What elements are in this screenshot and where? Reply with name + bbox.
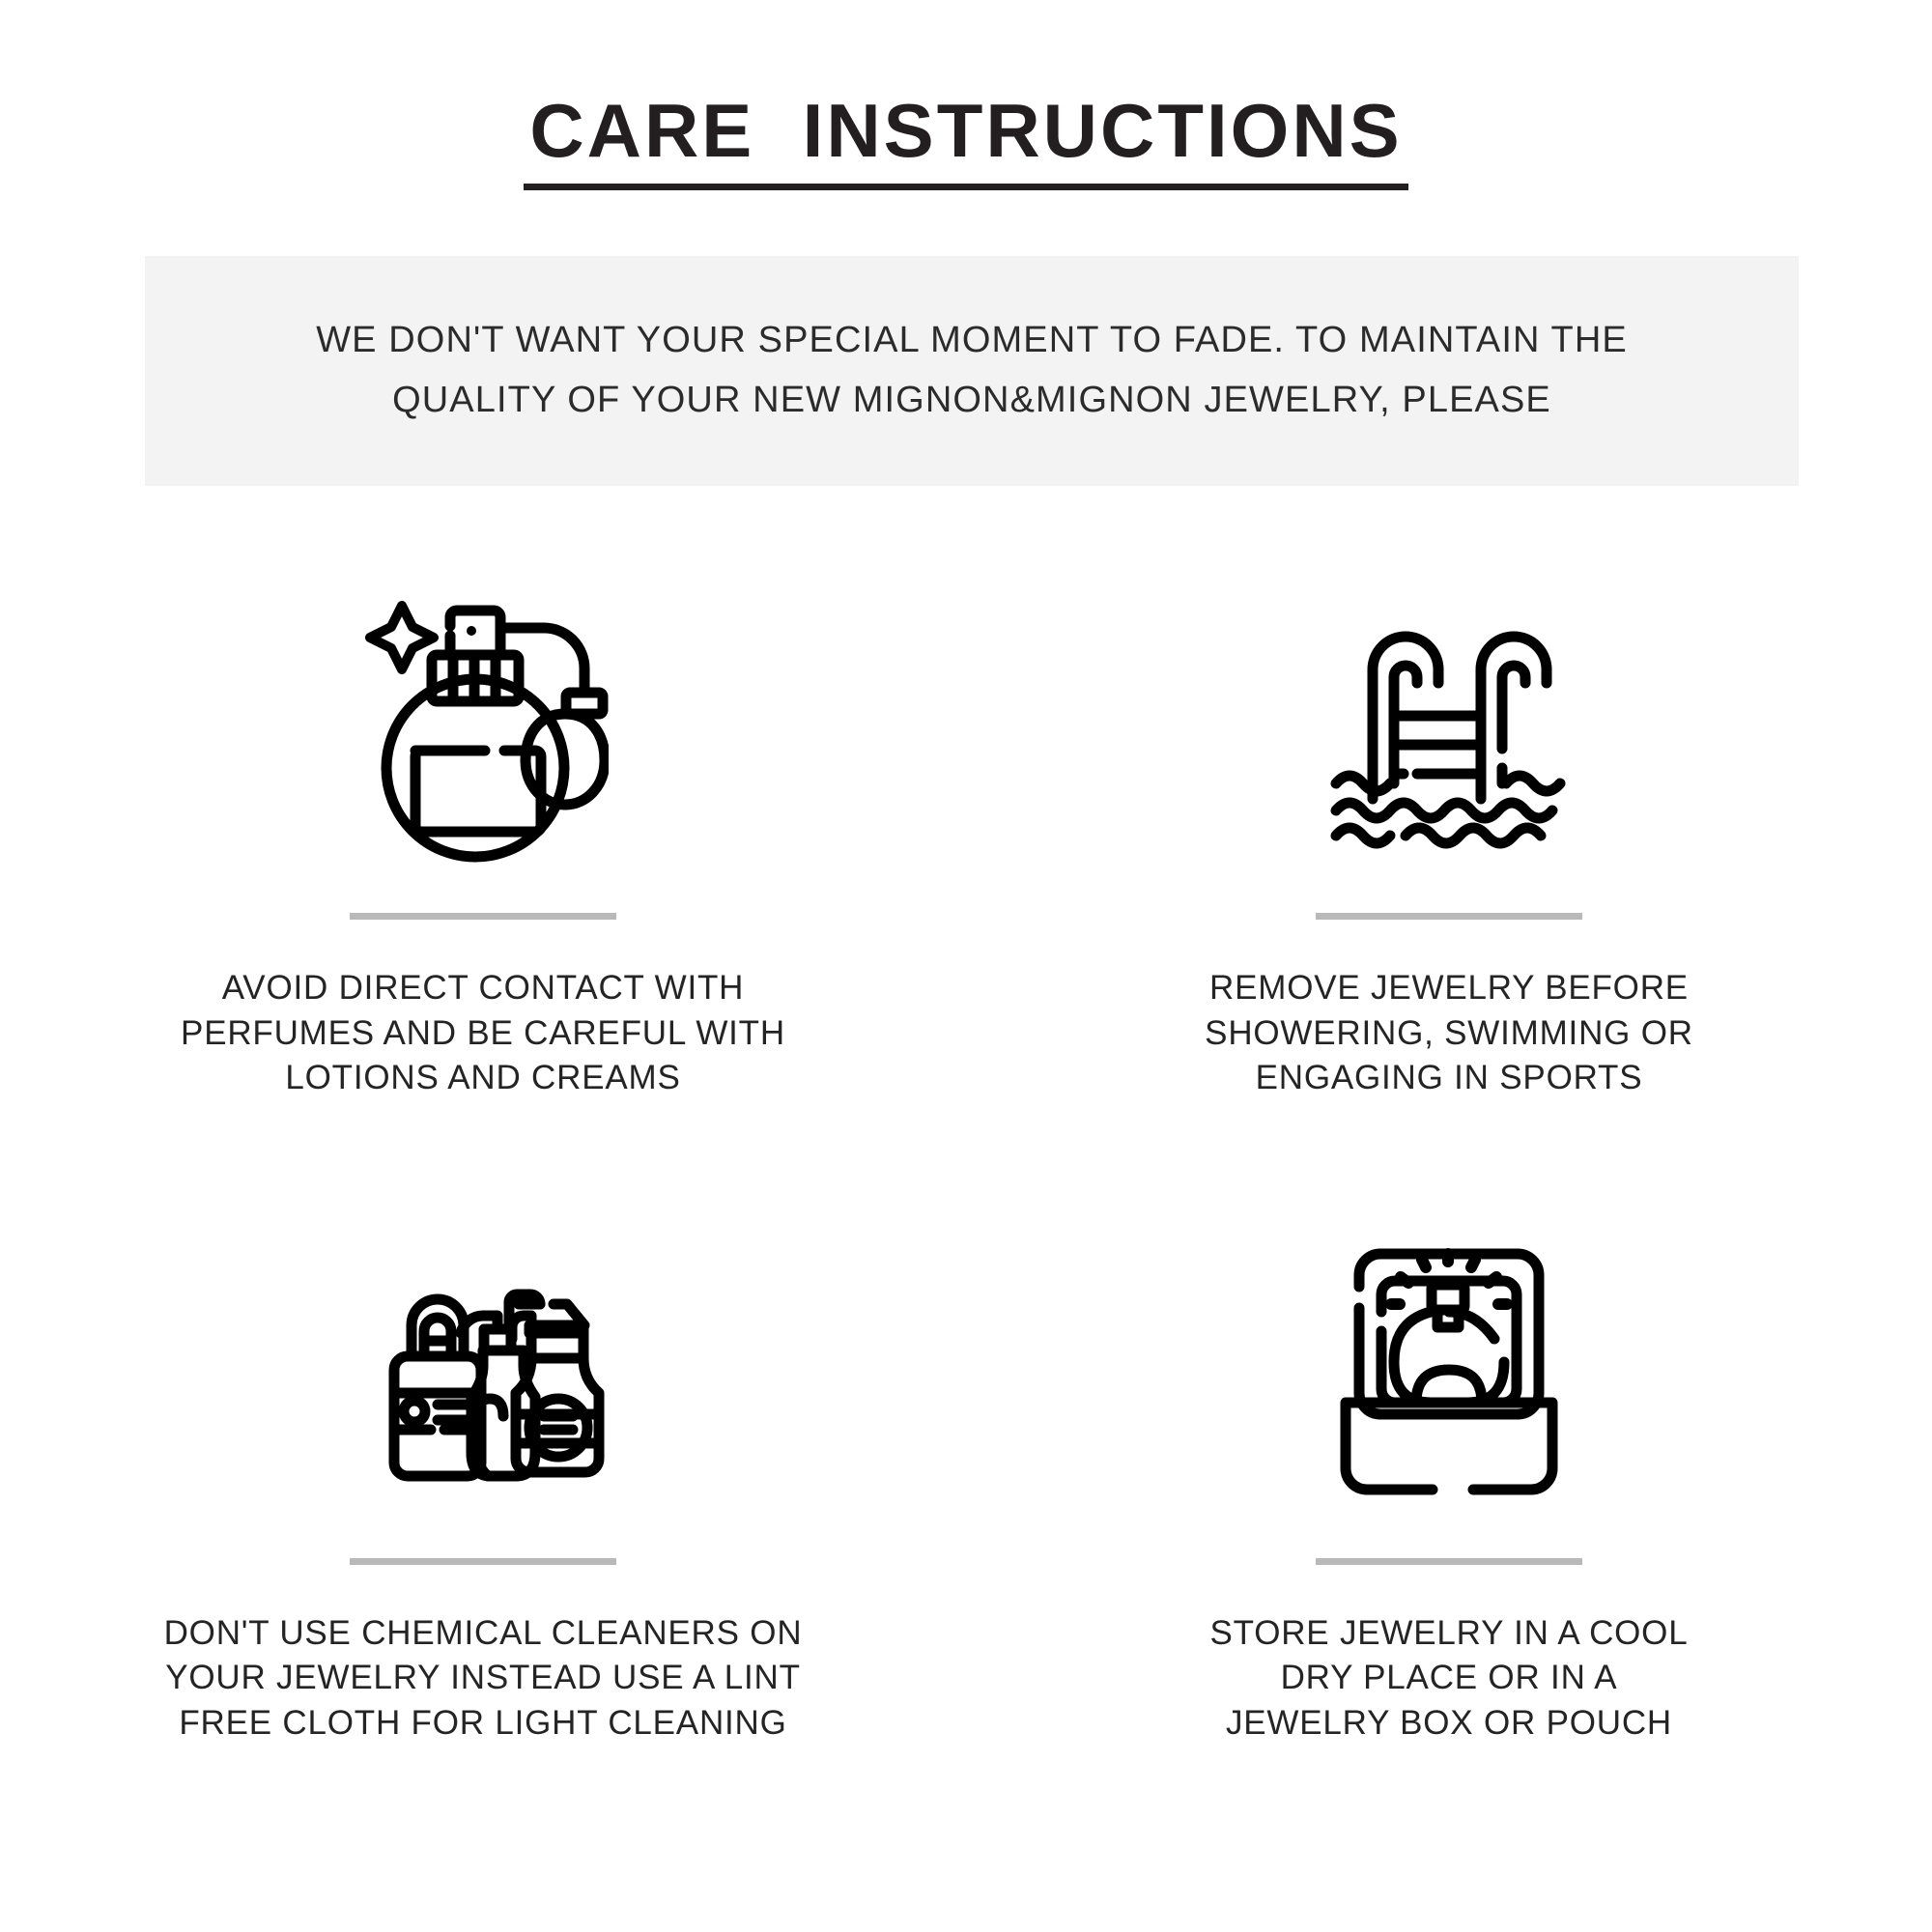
pool-ladder-icon <box>1319 580 1579 869</box>
item-divider <box>1316 913 1582 920</box>
care-items-row-2: DON'T USE CHEMICAL CLEANERS ON YOUR JEWE… <box>0 1225 1932 1747</box>
item-divider <box>350 1558 616 1565</box>
care-item-caption: AVOID DIRECT CONTACT WITH PERFUMES AND B… <box>181 966 785 1101</box>
page-title-container: CARE INSTRUCTIONS <box>0 93 1932 190</box>
care-item-caption: REMOVE JEWELRY BEFORE SHOWERING, SWIMMIN… <box>1205 966 1693 1101</box>
item-divider <box>350 913 616 920</box>
cleaning-bottles-icon <box>353 1225 613 1515</box>
care-item-cleaners: DON'T USE CHEMICAL CLEANERS ON YOUR JEWE… <box>0 1225 966 1747</box>
care-item-perfume: AVOID DIRECT CONTACT WITH PERFUMES AND B… <box>0 580 966 1101</box>
item-divider <box>1316 1558 1582 1565</box>
perfume-bottle-icon <box>357 580 609 869</box>
intro-line-1: WE DON'T WANT YOUR SPECIAL MOMENT TO FAD… <box>316 311 1628 371</box>
page-title: CARE INSTRUCTIONS <box>524 93 1407 190</box>
care-item-caption: DON'T USE CHEMICAL CLEANERS ON YOUR JEWE… <box>164 1611 803 1747</box>
care-item-storage: STORE JEWELRY IN A COOL DRY PLACE OR IN … <box>966 1225 1932 1747</box>
intro-line-2: QUALITY OF YOUR NEW MIGNON&MIGNON JEWELR… <box>392 371 1551 431</box>
ring-box-icon <box>1328 1225 1570 1515</box>
care-instructions-page: CARE INSTRUCTIONS WE DON'T WANT YOUR SPE… <box>0 0 1932 1932</box>
care-item-pool: REMOVE JEWELRY BEFORE SHOWERING, SWIMMIN… <box>966 580 1932 1101</box>
care-items-grid: AVOID DIRECT CONTACT WITH PERFUMES AND B… <box>0 580 1932 1746</box>
care-items-row-1: AVOID DIRECT CONTACT WITH PERFUMES AND B… <box>0 580 1932 1101</box>
intro-panel: WE DON'T WANT YOUR SPECIAL MOMENT TO FAD… <box>145 256 1799 486</box>
care-item-caption: STORE JEWELRY IN A COOL DRY PLACE OR IN … <box>1210 1611 1689 1747</box>
